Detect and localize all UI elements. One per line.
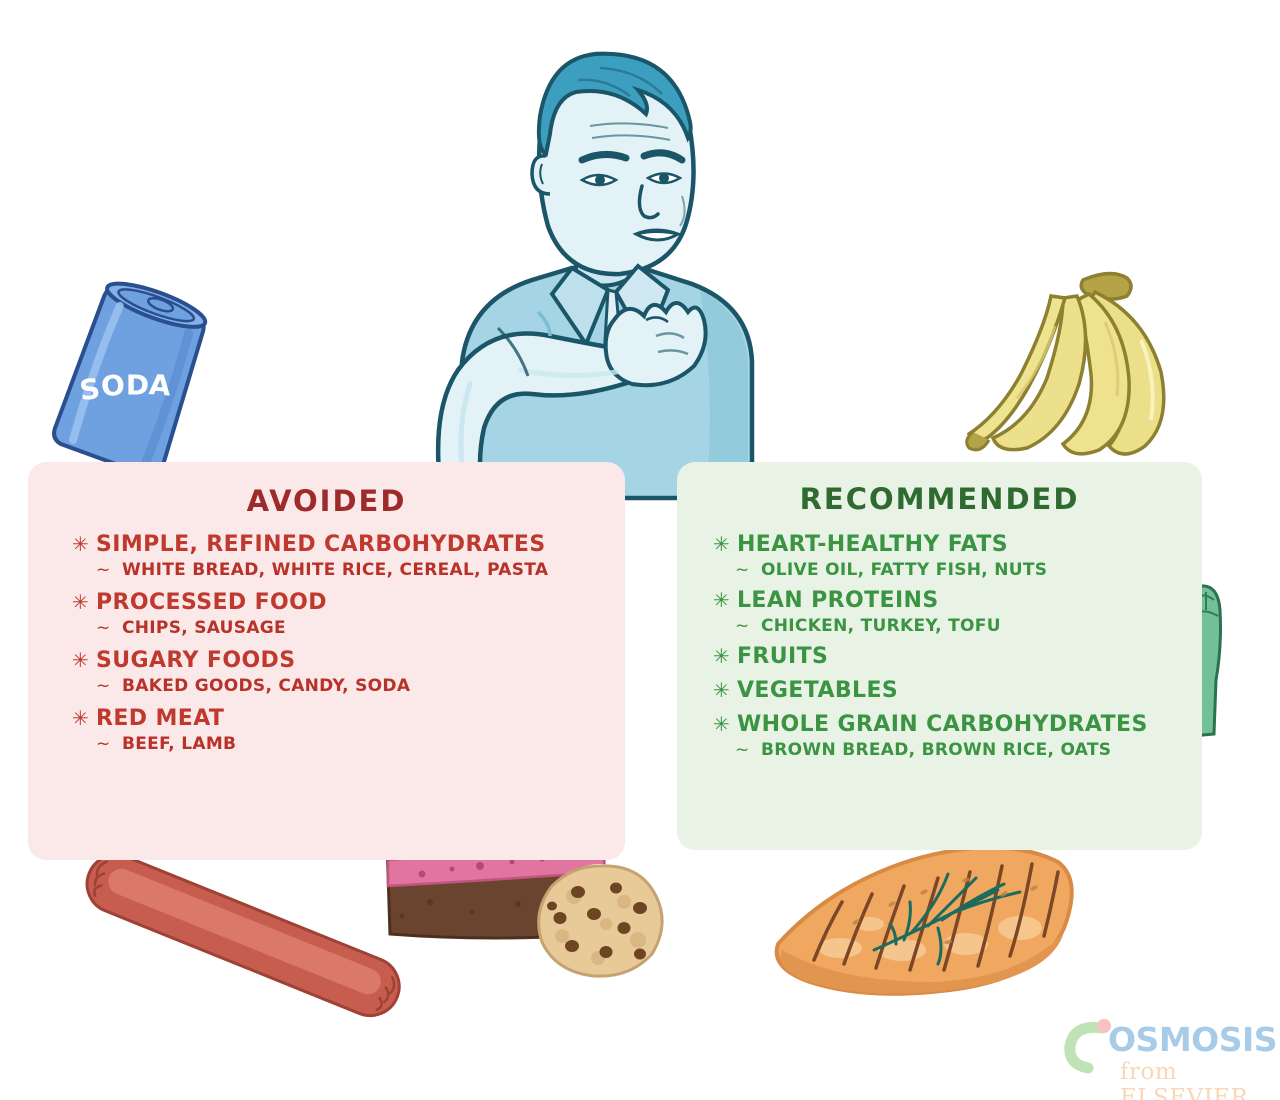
list-subitem: ~ WHITE BREAD, WHITE RICE, CEREAL, PASTA bbox=[72, 560, 669, 580]
panel-avoided-title: AVOIDED bbox=[28, 484, 625, 518]
recommended-list: ✳ HEART-HEALTHY FATS ~ OLIVE OIL, FATTY … bbox=[677, 532, 1238, 768]
list-item-label: HEART-HEALTHY FATS bbox=[737, 532, 1008, 557]
osmosis-wordmark: OSMOSIS bbox=[1108, 1020, 1277, 1059]
tilde-icon: ~ bbox=[735, 560, 761, 580]
list-subitem-label: OLIVE OIL, FATTY FISH, NUTS bbox=[761, 560, 1047, 580]
list-item-label: PROCESSED FOOD bbox=[96, 590, 327, 615]
asterisk-icon: ✳ bbox=[713, 714, 737, 734]
banana-front bbox=[993, 296, 1086, 450]
list-item: ✳ SUGARY FOODS bbox=[72, 648, 669, 673]
man-pupil-right bbox=[659, 173, 669, 183]
list-subitem-label: BEEF, LAMB bbox=[122, 734, 236, 754]
man-pupil-left bbox=[595, 175, 605, 185]
asterisk-icon: ✳ bbox=[713, 680, 737, 700]
list-item: ✳ VEGETABLES bbox=[713, 678, 1238, 703]
list-item: ✳ HEART-HEALTHY FATS bbox=[713, 532, 1238, 557]
grilled-chicken-breast bbox=[752, 832, 1092, 1017]
list-item-label: RED MEAT bbox=[96, 706, 224, 731]
asterisk-icon: ✳ bbox=[72, 650, 96, 670]
tilde-icon: ~ bbox=[96, 734, 122, 754]
list-subitem: ~ OLIVE OIL, FATTY FISH, NUTS bbox=[713, 560, 1238, 580]
list-item: ✳ RED MEAT bbox=[72, 706, 669, 731]
list-item-label: SIMPLE, REFINED CARBOHYDRATES bbox=[96, 532, 546, 557]
list-subitem-label: BAKED GOODS, CANDY, SODA bbox=[122, 676, 410, 696]
svg-text:O: O bbox=[100, 369, 126, 404]
list-item-label: VEGETABLES bbox=[737, 678, 898, 703]
tilde-icon: ~ bbox=[735, 740, 761, 760]
list-item: ✳ SIMPLE, REFINED CARBOHYDRATES bbox=[72, 532, 669, 557]
asterisk-icon: ✳ bbox=[713, 646, 737, 666]
asterisk-icon: ✳ bbox=[72, 708, 96, 728]
list-item: ✳ PROCESSED FOOD bbox=[72, 590, 669, 615]
bananas bbox=[955, 262, 1225, 472]
asterisk-icon: ✳ bbox=[713, 534, 737, 554]
list-item-label: SUGARY FOODS bbox=[96, 648, 295, 673]
list-subitem-label: WHITE BREAD, WHITE RICE, CEREAL, PASTA bbox=[122, 560, 548, 580]
list-item: ✳ WHOLE GRAIN CARBOHYDRATES bbox=[713, 712, 1238, 737]
list-item-label: FRUITS bbox=[737, 644, 828, 669]
list-item: ✳ FRUITS bbox=[713, 644, 1238, 669]
list-subitem: ~ BAKED GOODS, CANDY, SODA bbox=[72, 676, 669, 696]
list-subitem: ~ BROWN BREAD, BROWN RICE, OATS bbox=[713, 740, 1238, 760]
chocolate-chip-cookie bbox=[528, 862, 678, 982]
tilde-icon: ~ bbox=[96, 618, 122, 638]
list-subitem: ~ BEEF, LAMB bbox=[72, 734, 669, 754]
avoided-list: ✳ SIMPLE, REFINED CARBOHYDRATES ~ WHITE … bbox=[28, 532, 669, 764]
svg-text:A: A bbox=[148, 368, 172, 402]
tilde-icon: ~ bbox=[96, 560, 122, 580]
asterisk-icon: ✳ bbox=[713, 590, 737, 610]
tilde-icon: ~ bbox=[96, 676, 122, 696]
osmosis-tagline: from ELSEVIER bbox=[1120, 1059, 1270, 1100]
tilde-icon: ~ bbox=[735, 616, 761, 636]
infographic-canvas: S O D A bbox=[0, 0, 1280, 1100]
list-item-label: LEAN PROTEINS bbox=[737, 588, 939, 613]
asterisk-icon: ✳ bbox=[72, 534, 96, 554]
list-subitem-label: CHICKEN, TURKEY, TOFU bbox=[761, 616, 1001, 636]
list-subitem-label: BROWN BREAD, BROWN RICE, OATS bbox=[761, 740, 1111, 760]
osmosis-arc-icon bbox=[1070, 1027, 1102, 1068]
list-subitem: ~ CHIPS, SAUSAGE bbox=[72, 618, 669, 638]
sausage bbox=[62, 848, 422, 1028]
list-subitem: ~ CHICKEN, TURKEY, TOFU bbox=[713, 616, 1238, 636]
list-item-label: WHOLE GRAIN CARBOHYDRATES bbox=[737, 712, 1148, 737]
osmosis-logo: OSMOSIS from ELSEVIER bbox=[1058, 1016, 1270, 1094]
asterisk-icon: ✳ bbox=[72, 592, 96, 612]
list-item: ✳ LEAN PROTEINS bbox=[713, 588, 1238, 613]
svg-text:D: D bbox=[126, 368, 149, 401]
panel-avoided: AVOIDED ✳ SIMPLE, REFINED CARBOHYDRATES … bbox=[28, 462, 625, 860]
panel-recommended-title: RECOMMENDED bbox=[677, 482, 1202, 516]
panel-recommended: RECOMMENDED ✳ HEART-HEALTHY FATS ~ OLIVE… bbox=[677, 462, 1202, 850]
man-with-chest-pain bbox=[400, 28, 790, 498]
list-subitem-label: CHIPS, SAUSAGE bbox=[122, 618, 286, 638]
